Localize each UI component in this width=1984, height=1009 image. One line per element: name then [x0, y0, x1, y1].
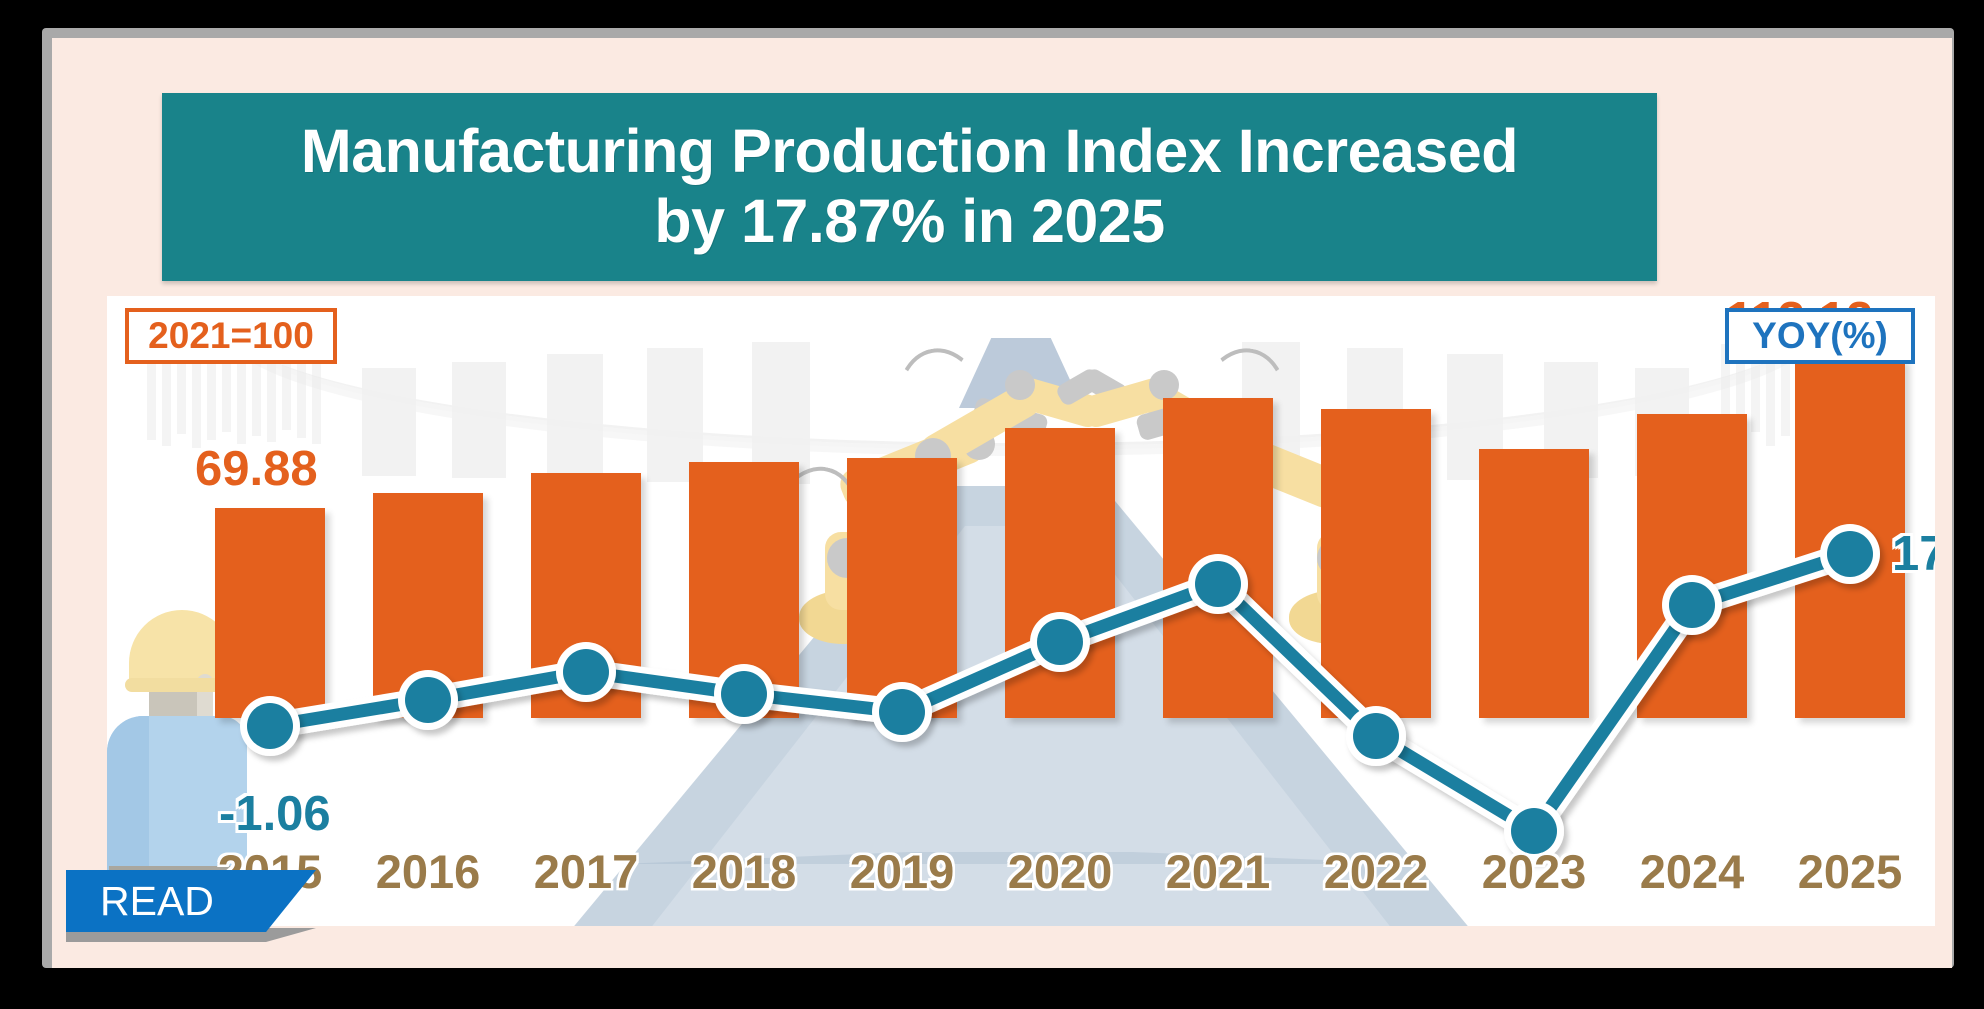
bar-value-label-2015: 69.88 — [195, 441, 318, 497]
x-axis-label-2016: 2016 — [348, 844, 508, 899]
x-axis-label-2018: 2018 — [664, 844, 824, 899]
yoy-legend-badge: YOY(%) — [1725, 308, 1915, 364]
x-axis-label-2019: 2019 — [822, 844, 982, 899]
x-axis-label-2021: 2021 — [1138, 844, 1298, 899]
yoy-line-series — [107, 296, 1935, 926]
x-axis-label-2023: 2023 — [1454, 844, 1614, 899]
chart-plot-area: 69.88 113.12 -1.06 17.87 2021=100 YOY(%)… — [107, 296, 1935, 926]
read-banner-label: READ — [66, 878, 214, 925]
page-title-line2: by 17.87% in 2025 — [654, 187, 1164, 255]
x-axis-label-2024: 2024 — [1612, 844, 1772, 899]
line-value-label-2025: 17.87 — [1892, 526, 1935, 582]
x-axis-label-2022: 2022 — [1296, 844, 1456, 899]
infographic-root: Manufacturing Production Index Increased… — [0, 0, 1984, 1009]
chart-card: 69.88 113.12 -1.06 17.87 2021=100 YOY(%)… — [107, 296, 1935, 926]
base-year-badge: 2021=100 — [125, 308, 337, 364]
page-title-line1: Manufacturing Production Index Increased — [301, 117, 1518, 185]
title-banner: Manufacturing Production Index Increased… — [162, 93, 1657, 281]
content-panel: Manufacturing Production Index Increased… — [52, 38, 1952, 968]
x-axis-label-2020: 2020 — [980, 844, 1140, 899]
page-title: Manufacturing Production Index Increased… — [277, 117, 1542, 256]
line-value-label-2015: -1.06 — [219, 786, 331, 842]
x-axis-label-2017: 2017 — [506, 844, 666, 899]
x-axis-label-2025: 2025 — [1770, 844, 1930, 899]
